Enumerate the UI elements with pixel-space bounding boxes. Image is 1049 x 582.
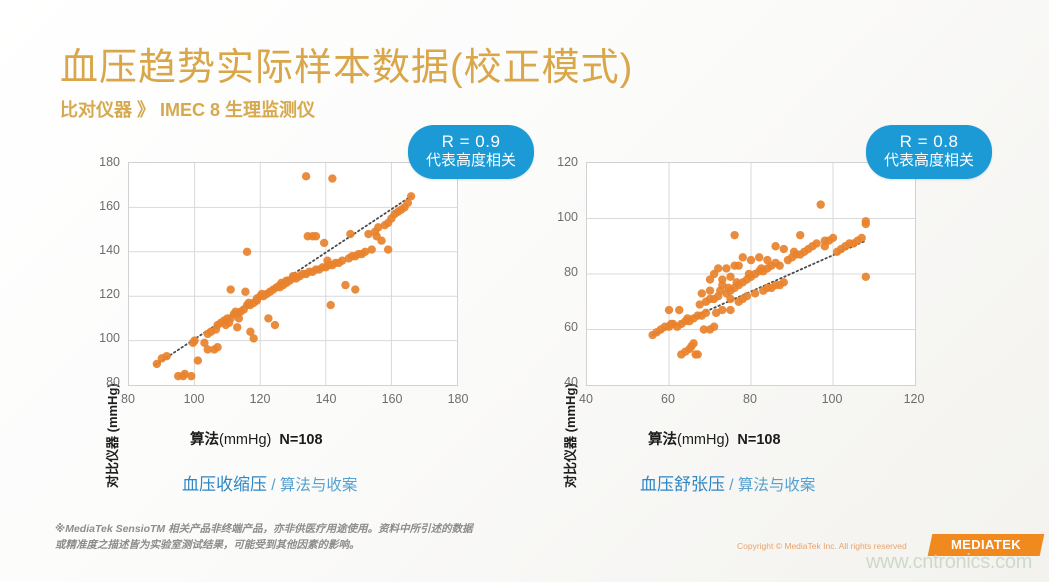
x-tick-left-160: 160 bbox=[372, 392, 412, 406]
y-tick-left-160: 160 bbox=[78, 199, 120, 213]
x-axis-title-right: 算法(mmHg) N=108 bbox=[648, 428, 781, 449]
x-axis-title-right-unit: (mmHg) bbox=[677, 432, 729, 448]
y-tick-right-40: 40 bbox=[536, 375, 578, 389]
chart-caption-diastolic-lead: 血压舒张压 bbox=[640, 475, 725, 494]
x-axis-title-left-unit: (mmHg) bbox=[219, 432, 271, 448]
chart-caption-systolic-tail: / 算法与收案 bbox=[267, 477, 357, 494]
chart-caption-systolic-lead: 血压收缩压 bbox=[182, 475, 267, 494]
copyright-text: Copyright © MediaTek Inc. All rights res… bbox=[737, 541, 907, 551]
x-tick-left-80: 80 bbox=[108, 392, 148, 406]
x-tick-right-40: 40 bbox=[566, 392, 606, 406]
x-axis-title-right-main: 算法 bbox=[648, 432, 677, 448]
correlation-badge-diastolic-value: R = 0.8 bbox=[884, 132, 974, 152]
y-tick-right-60: 60 bbox=[536, 320, 578, 334]
y-tick-left-120: 120 bbox=[78, 287, 120, 301]
x-tick-right-60: 60 bbox=[648, 392, 688, 406]
correlation-badge-diastolic: R = 0.8 代表高度相关 bbox=[866, 125, 992, 179]
correlation-badge-systolic: R = 0.9 代表高度相关 bbox=[408, 125, 534, 179]
scatter-plot-diastolic[interactable] bbox=[586, 162, 916, 386]
y-tick-left-100: 100 bbox=[78, 331, 120, 345]
y-tick-right-80: 80 bbox=[536, 265, 578, 279]
scatter-plot-systolic-canvas bbox=[129, 163, 457, 385]
chart-caption-diastolic: 血压舒张压 / 算法与收案 bbox=[640, 470, 815, 495]
x-tick-right-80: 80 bbox=[730, 392, 770, 406]
x-tick-left-120: 120 bbox=[240, 392, 280, 406]
y-tick-right-100: 100 bbox=[536, 210, 578, 224]
datapoints-systolic bbox=[153, 172, 416, 380]
y-tick-left-180: 180 bbox=[78, 155, 120, 169]
x-tick-left-100: 100 bbox=[174, 392, 214, 406]
datapoints-diastolic bbox=[648, 200, 870, 358]
y-tick-right-120: 120 bbox=[536, 155, 578, 169]
correlation-badge-diastolic-note: 代表高度相关 bbox=[884, 152, 974, 170]
x-axis-title-left-n: N=108 bbox=[279, 432, 322, 448]
x-axis-title-left: 算法(mmHg) N=108 bbox=[190, 428, 323, 449]
page-title: 血压趋势实际样本数据(校正模式) bbox=[60, 36, 633, 91]
x-tick-right-100: 100 bbox=[812, 392, 852, 406]
correlation-badge-systolic-value: R = 0.9 bbox=[426, 132, 516, 152]
correlation-badge-systolic-note: 代表高度相关 bbox=[426, 152, 516, 170]
page-subtitle: 比对仪器 》 IMEC 8 生理监测仪 bbox=[60, 96, 315, 122]
x-axis-title-right-n: N=108 bbox=[737, 432, 780, 448]
x-tick-left-180: 180 bbox=[438, 392, 478, 406]
scatter-plot-systolic[interactable] bbox=[128, 162, 458, 386]
x-tick-right-120: 120 bbox=[894, 392, 934, 406]
x-axis-title-left-main: 算法 bbox=[190, 432, 219, 448]
chart-caption-systolic: 血压收缩压 / 算法与收案 bbox=[182, 470, 357, 495]
chart-caption-diastolic-tail: / 算法与收案 bbox=[725, 477, 815, 494]
scatter-plot-diastolic-canvas bbox=[587, 163, 915, 385]
y-tick-left-140: 140 bbox=[78, 243, 120, 257]
slide-root: 血压趋势实际样本数据(校正模式) 比对仪器 》 IMEC 8 生理监测仪 对比仪… bbox=[0, 0, 1049, 582]
x-tick-left-140: 140 bbox=[306, 392, 346, 406]
site-watermark: www.cntronics.com bbox=[866, 551, 1032, 574]
disclaimer-text: ※MediaTek SensioTM 相关产品非终端产品，亦非供医疗用途使用。资… bbox=[55, 521, 473, 554]
y-tick-left-80: 80 bbox=[78, 375, 120, 389]
